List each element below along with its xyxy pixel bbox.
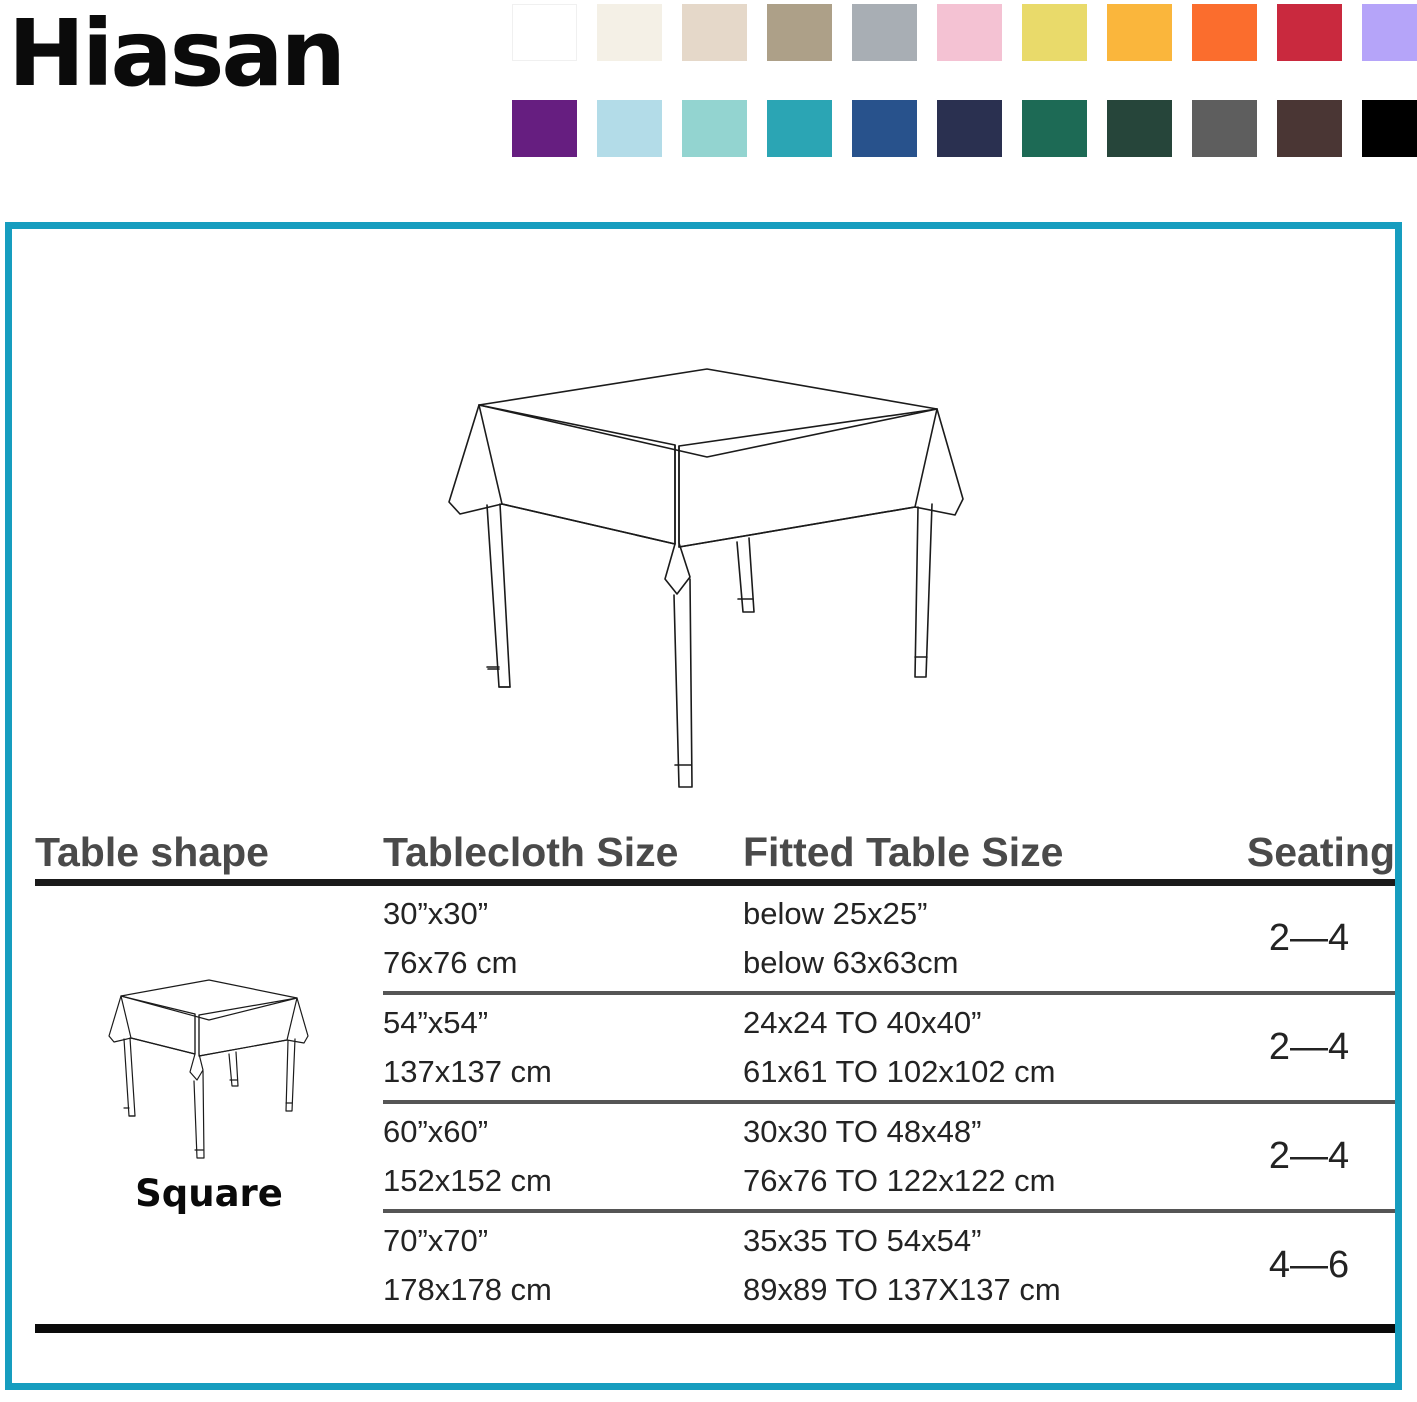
swatch-ivory[interactable] xyxy=(597,4,662,61)
swatch-light-blue[interactable] xyxy=(597,100,662,157)
fitted-size-cm: 61x61 TO 102x102 cm xyxy=(743,1048,1223,1096)
cell-tablecloth-size: 60”x60” 152x152 cm xyxy=(383,1108,743,1204)
cell-seating: 4—6 xyxy=(1223,1244,1395,1287)
fitted-size-inches: 24x24 TO 40x40” xyxy=(743,999,1223,1047)
swatch-aqua[interactable] xyxy=(682,100,747,157)
fitted-size-cm: 89x89 TO 137X137 cm xyxy=(743,1266,1223,1314)
cell-fitted-table-size: 30x30 TO 48x48” 76x76 TO 122x122 cm xyxy=(743,1108,1223,1204)
fitted-size-inches: 30x30 TO 48x48” xyxy=(743,1108,1223,1156)
swatch-red[interactable] xyxy=(1277,4,1342,61)
swatch-white[interactable] xyxy=(512,4,577,61)
header-seating: Seating xyxy=(1223,832,1395,873)
table-row: 70”x70” 178x178 cm 35x35 TO 54x54” 89x89… xyxy=(383,1213,1395,1318)
swatch-gold[interactable] xyxy=(1107,4,1172,61)
header-fitted-table-size: Fitted Table Size xyxy=(743,832,1223,873)
cloth-size-cm: 137x137 cm xyxy=(383,1048,743,1096)
header-divider xyxy=(35,879,1395,886)
swatch-taupe[interactable] xyxy=(767,4,832,61)
size-table: Table shape Tablecloth Size Fitted Table… xyxy=(35,811,1395,1333)
shape-cell: Square xyxy=(35,886,383,1318)
swatch-row-2 xyxy=(512,100,1412,157)
cell-tablecloth-size: 30”x30” 76x76 cm xyxy=(383,890,743,986)
square-table-illustration-icon xyxy=(407,347,1007,817)
table-row: 30”x30” 76x76 cm below 25x25” below 63x6… xyxy=(383,886,1395,991)
brand-swatch-header: Hiasan xyxy=(0,0,1417,205)
fitted-size-cm: below 63x63cm xyxy=(743,939,1223,987)
cell-fitted-table-size: 35x35 TO 54x54” 89x89 TO 137X137 cm xyxy=(743,1217,1223,1313)
table-header-row: Table shape Tablecloth Size Fitted Table… xyxy=(35,811,1395,873)
swatch-orange[interactable] xyxy=(1192,4,1257,61)
color-swatch-grid xyxy=(512,4,1412,196)
swatch-pink[interactable] xyxy=(937,4,1002,61)
cloth-size-inches: 70”x70” xyxy=(383,1217,743,1265)
fitted-size-inches: 35x35 TO 54x54” xyxy=(743,1217,1223,1265)
swatch-purple[interactable] xyxy=(512,100,577,157)
cell-tablecloth-size: 54”x54” 137x137 cm xyxy=(383,999,743,1095)
cloth-size-inches: 30”x30” xyxy=(383,890,743,938)
swatch-dark-gray[interactable] xyxy=(1192,100,1257,157)
table-body: Square 30”x30” 76x76 cm below 25x25” bel… xyxy=(35,886,1395,1318)
cell-seating: 2—4 xyxy=(1223,917,1395,960)
swatch-teal[interactable] xyxy=(767,100,832,157)
table-row: 60”x60” 152x152 cm 30x30 TO 48x48” 76x76… xyxy=(383,1104,1395,1209)
seating-value: 2—4 xyxy=(1269,1026,1349,1068)
cloth-size-inches: 54”x54” xyxy=(383,999,743,1047)
swatch-navy[interactable] xyxy=(937,100,1002,157)
cloth-size-inches: 60”x60” xyxy=(383,1108,743,1156)
swatch-emerald-green[interactable] xyxy=(1022,100,1087,157)
swatch-gray[interactable] xyxy=(852,4,917,61)
seating-value: 4—6 xyxy=(1269,1244,1349,1286)
fitted-size-cm: 76x76 TO 122x122 cm xyxy=(743,1157,1223,1205)
swatch-lavender[interactable] xyxy=(1362,4,1417,61)
size-guide-panel: Table shape Tablecloth Size Fitted Table… xyxy=(5,222,1402,1390)
brand-logo: Hiasan xyxy=(8,8,343,100)
swatch-black[interactable] xyxy=(1362,100,1417,157)
seating-value: 2—4 xyxy=(1269,1135,1349,1177)
cell-tablecloth-size: 70”x70” 178x178 cm xyxy=(383,1217,743,1313)
cloth-size-cm: 178x178 cm xyxy=(383,1266,743,1314)
cell-fitted-table-size: 24x24 TO 40x40” 61x61 TO 102x102 cm xyxy=(743,999,1223,1095)
swatch-denim-blue[interactable] xyxy=(852,100,917,157)
header-table-shape: Table shape xyxy=(35,832,383,873)
swatch-beige[interactable] xyxy=(682,4,747,61)
swatch-forest-green[interactable] xyxy=(1107,100,1172,157)
table-row: 54”x54” 137x137 cm 24x24 TO 40x40” 61x61… xyxy=(383,995,1395,1100)
swatch-yellow[interactable] xyxy=(1022,4,1087,61)
cloth-size-cm: 152x152 cm xyxy=(383,1157,743,1205)
cell-fitted-table-size: below 25x25” below 63x63cm xyxy=(743,890,1223,986)
cell-seating: 2—4 xyxy=(1223,1026,1395,1069)
swatch-dark-brown[interactable] xyxy=(1277,100,1342,157)
shape-label: Square xyxy=(35,1172,383,1215)
header-tablecloth-size: Tablecloth Size xyxy=(383,832,743,873)
cell-seating: 2—4 xyxy=(1223,1135,1395,1178)
square-table-thumbnail-icon xyxy=(89,968,329,1168)
cloth-size-cm: 76x76 cm xyxy=(383,939,743,987)
size-rows: 30”x30” 76x76 cm below 25x25” below 63x6… xyxy=(383,886,1395,1318)
swatch-row-1 xyxy=(512,4,1412,61)
table-bottom-divider xyxy=(35,1324,1395,1333)
fitted-size-inches: below 25x25” xyxy=(743,890,1223,938)
seating-value: 2—4 xyxy=(1269,917,1349,959)
